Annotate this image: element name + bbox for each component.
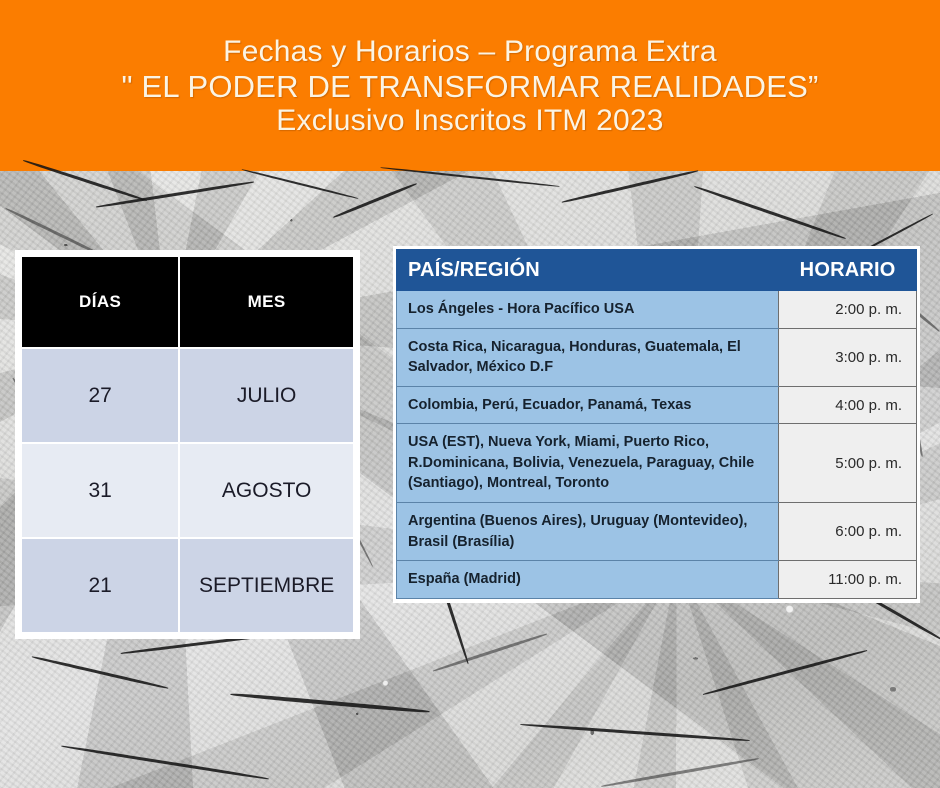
schedule-table-row: Costa Rica, Nicaragua, Honduras, Guatema… (397, 328, 917, 386)
dates-cell-month: AGOSTO (180, 444, 353, 537)
dates-header-days: DÍAS (22, 257, 178, 347)
schedule-cell-time: 6:00 p. m. (779, 503, 917, 561)
dates-cell-month: JULIO (180, 349, 353, 442)
schedule-table-row: USA (EST), Nueva York, Miami, Puerto Ric… (397, 424, 917, 503)
schedule-cell-region: Argentina (Buenos Aires), Uruguay (Monte… (397, 503, 779, 561)
banner-title-line-1: Fechas y Horarios – Programa Extra (223, 35, 717, 69)
schedule-table-row: Argentina (Buenos Aires), Uruguay (Monte… (397, 503, 917, 561)
schedule-table-row: Colombia, Perú, Ecuador, Panamá, Texas 4… (397, 386, 917, 424)
schedule-cell-time: 11:00 p. m. (779, 561, 917, 599)
schedule-table-header-row: PAÍS/REGIÓN HORARIO (397, 250, 917, 291)
dates-table-row: 31 AGOSTO (22, 444, 353, 537)
schedule-cell-time: 3:00 p. m. (779, 328, 917, 386)
schedule-cell-time: 4:00 p. m. (779, 386, 917, 424)
schedule-cell-region: Colombia, Perú, Ecuador, Panamá, Texas (397, 386, 779, 424)
schedule-table-container: PAÍS/REGIÓN HORARIO Los Ángeles - Hora P… (393, 246, 920, 603)
banner-title-line-2: " EL PODER DE TRANSFORMAR REALIDADES” (121, 69, 818, 104)
dates-cell-day: 27 (22, 349, 178, 442)
dates-table-header-row: DÍAS MES (22, 257, 353, 347)
slide-canvas: Fechas y Horarios – Programa Extra " EL … (0, 0, 940, 788)
dates-cell-month: SEPTIEMBRE (180, 539, 353, 632)
schedule-cell-region: España (Madrid) (397, 561, 779, 599)
dates-header-month: MES (180, 257, 353, 347)
dates-table-row: 27 JULIO (22, 349, 353, 442)
title-banner: Fechas y Horarios – Programa Extra " EL … (0, 0, 940, 171)
dates-cell-day: 21 (22, 539, 178, 632)
dates-table-container: DÍAS MES 27 JULIO 31 AGOSTO 21 SEPTIEMBR… (15, 250, 360, 639)
schedule-header-time: HORARIO (779, 250, 917, 291)
banner-title-line-3: Exclusivo Inscritos ITM 2023 (276, 104, 663, 138)
schedule-cell-region: Costa Rica, Nicaragua, Honduras, Guatema… (397, 328, 779, 386)
schedule-cell-time: 2:00 p. m. (779, 291, 917, 329)
schedule-cell-region: USA (EST), Nueva York, Miami, Puerto Ric… (397, 424, 779, 503)
schedule-cell-region: Los Ángeles - Hora Pacífico USA (397, 291, 779, 329)
schedule-table-row: España (Madrid) 11:00 p. m. (397, 561, 917, 599)
dates-table-row: 21 SEPTIEMBRE (22, 539, 353, 632)
schedule-header-region: PAÍS/REGIÓN (397, 250, 779, 291)
dates-table: DÍAS MES 27 JULIO 31 AGOSTO 21 SEPTIEMBR… (20, 255, 355, 634)
dates-cell-day: 31 (22, 444, 178, 537)
schedule-table: PAÍS/REGIÓN HORARIO Los Ángeles - Hora P… (396, 249, 917, 599)
schedule-table-row: Los Ángeles - Hora Pacífico USA 2:00 p. … (397, 291, 917, 329)
schedule-cell-time: 5:00 p. m. (779, 424, 917, 503)
